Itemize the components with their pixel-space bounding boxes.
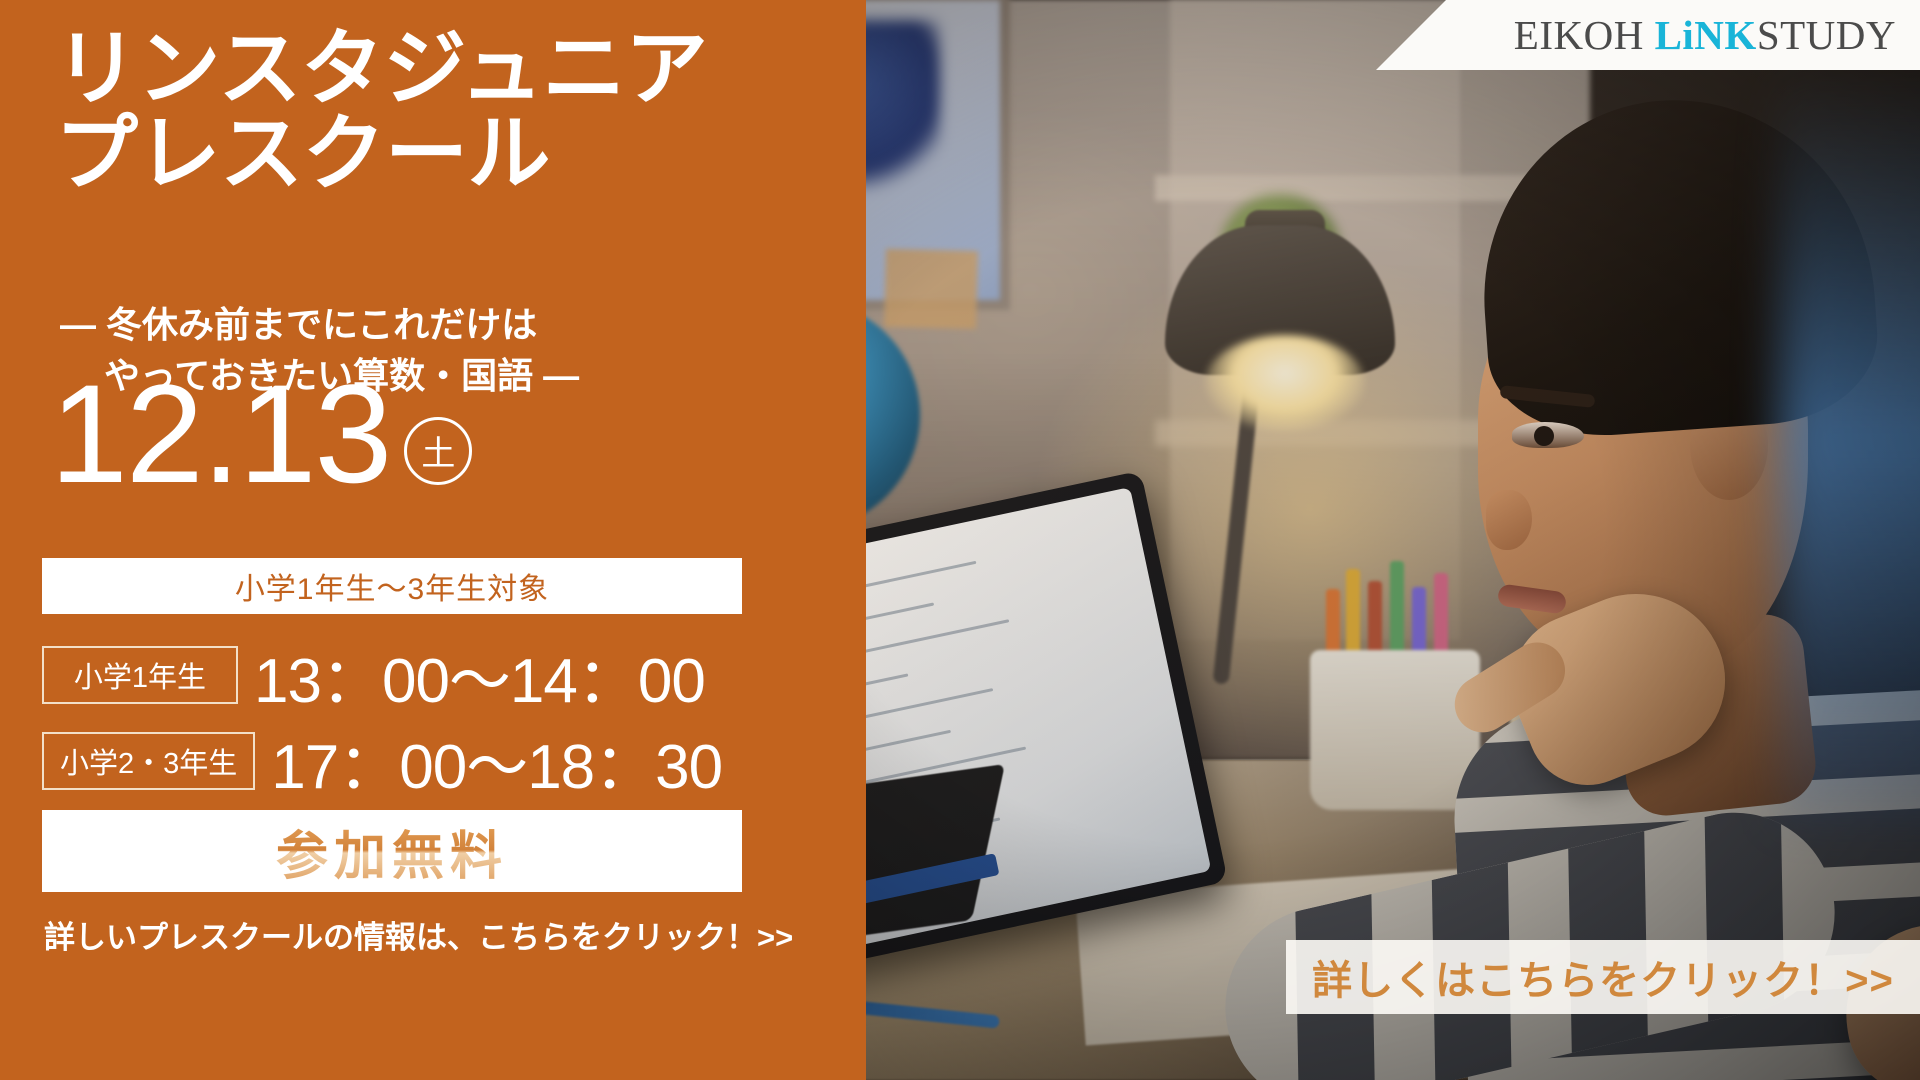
date-number: 12.13 <box>50 370 390 499</box>
schedule-time: 17：00〜18：30 <box>271 716 722 806</box>
logo-study: STUDY <box>1757 12 1896 58</box>
page-title: リンスタジュニア プレスクール <box>55 26 855 197</box>
schedule-time: 13：00〜14：00 <box>254 630 705 720</box>
cta-label: 詳しくはこちらをクリック！>> <box>1312 948 1894 1006</box>
day-of-week-badge: 土 <box>404 417 472 485</box>
panel-link-text[interactable]: 詳しいプレスクールの情報は、こちらをクリック！>> <box>44 912 744 957</box>
logo-link: LiNK <box>1655 12 1757 58</box>
cta-button[interactable]: 詳しくはこちらをクリック！>> <box>1286 940 1920 1014</box>
schedule-row: 小学2・3年生 17：00〜18：30 <box>42 716 722 806</box>
target-audience-label: 小学1年生〜3年生対象 <box>235 564 549 608</box>
logo-eikoh: EIKOH <box>1514 12 1655 58</box>
fee-label: 参加無料 <box>276 814 508 889</box>
subtitle-line-1: ― 冬休み前までにこれだけは <box>60 304 537 345</box>
brand-logo[interactable]: EIKOH LiNKSTUDY <box>1376 0 1920 70</box>
study-photo <box>700 0 1920 1080</box>
info-panel: リンスタジュニア プレスクール ― 冬休み前までにこれだけは やっておきたい算数… <box>0 0 866 1080</box>
event-date: 12.13 土 <box>50 370 472 499</box>
brand-logo-text: EIKOH LiNKSTUDY <box>1514 11 1896 59</box>
fee-bar: 参加無料 <box>42 810 742 892</box>
grade-tag: 小学2・3年生 <box>42 732 255 790</box>
vignette <box>700 0 1920 1080</box>
target-audience-bar: 小学1年生〜3年生対象 <box>42 558 742 614</box>
grade-tag: 小学1年生 <box>42 646 238 704</box>
promo-banner: リンスタジュニア プレスクール ― 冬休み前までにこれだけは やっておきたい算数… <box>0 0 1920 1080</box>
schedule-row: 小学1年生 13：00〜14：00 <box>42 630 705 720</box>
